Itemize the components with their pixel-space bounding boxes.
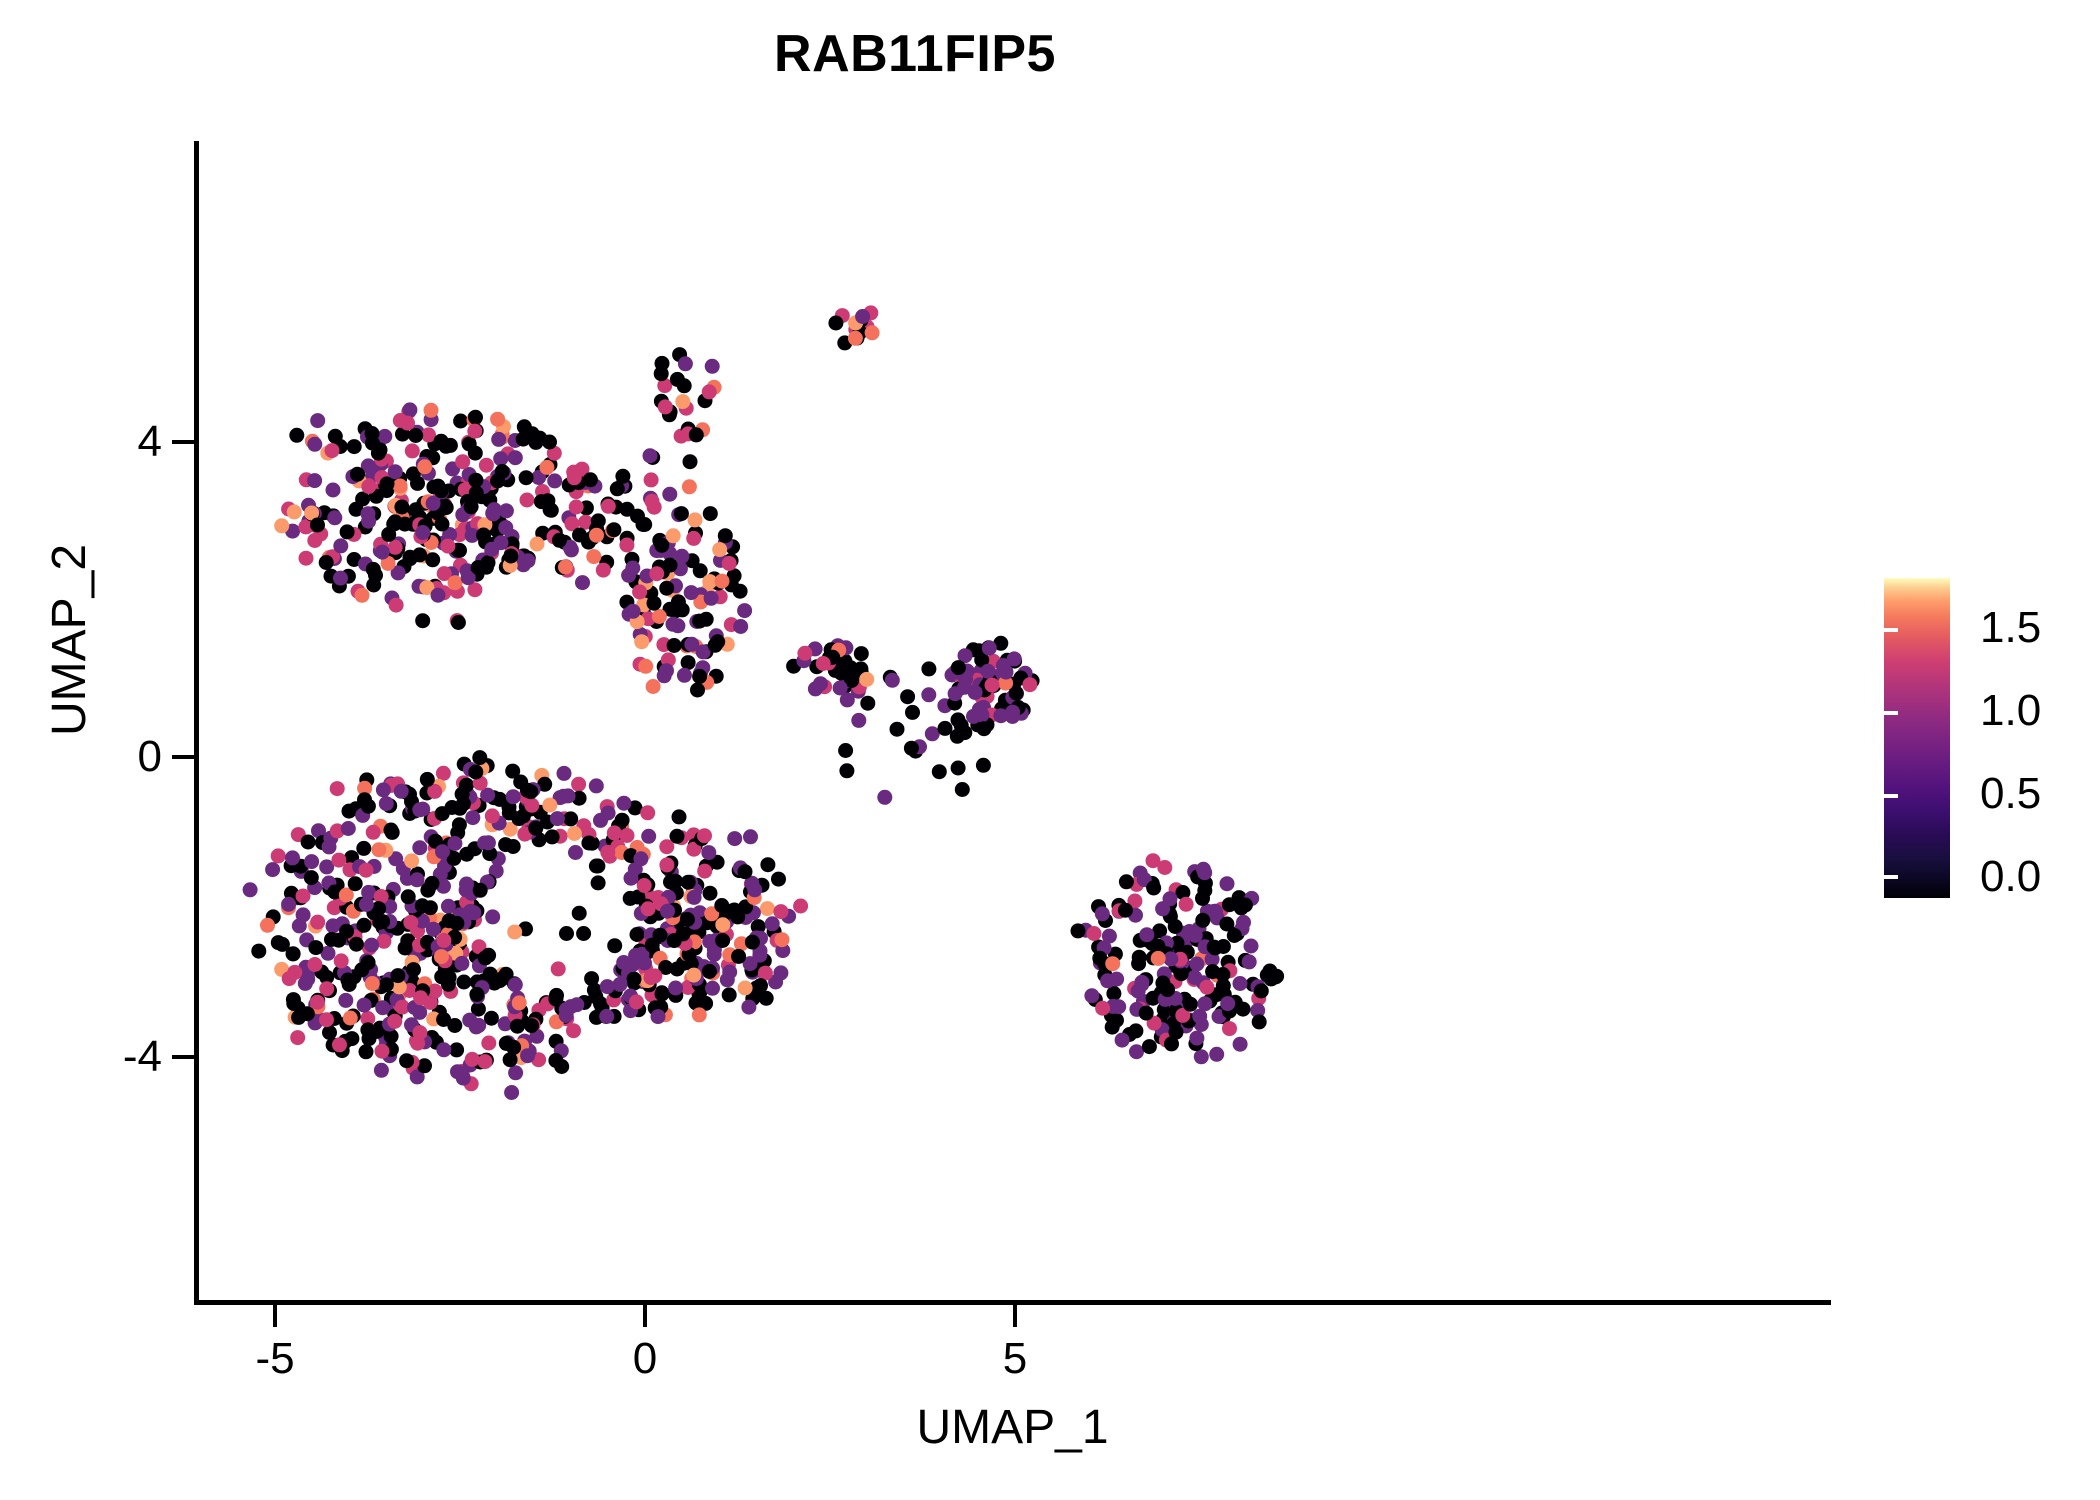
scatter-point: [563, 811, 578, 826]
scatter-point: [415, 525, 430, 540]
scatter-point: [324, 932, 339, 947]
scatter-point: [692, 614, 707, 629]
scatter-point: [296, 907, 311, 922]
scatter-point: [503, 549, 518, 564]
scatter-point: [355, 588, 370, 603]
scatter-point: [338, 993, 353, 1008]
scatter-point: [1139, 927, 1154, 942]
scatter-point: [1119, 874, 1134, 889]
scatter-point: [1095, 906, 1110, 921]
scatter-point: [641, 901, 656, 916]
scatter-point: [731, 949, 746, 964]
scatter-point: [733, 584, 748, 599]
scatter-points-layer: [194, 141, 1830, 1303]
scatter-point: [456, 796, 471, 811]
scatter-point: [596, 563, 611, 578]
scatter-point: [591, 875, 606, 890]
scatter-point: [854, 646, 869, 661]
scatter-point: [327, 510, 342, 525]
scatter-point: [765, 916, 780, 931]
scatter-point: [601, 499, 616, 514]
scatter-point: [547, 473, 562, 488]
scatter-point: [508, 1065, 523, 1080]
scatter-point: [1262, 964, 1277, 979]
scatter-point: [1183, 997, 1198, 1012]
scatter-point: [599, 1009, 614, 1024]
scatter-point: [692, 669, 707, 684]
scatter-point: [286, 996, 301, 1011]
scatter-point: [667, 638, 682, 653]
scatter-point: [1160, 982, 1175, 997]
scatter-point: [406, 962, 421, 977]
scatter-point: [1087, 926, 1102, 941]
scatter-point: [290, 1030, 305, 1045]
scatter-point: [1222, 1021, 1237, 1036]
scatter-point: [1134, 975, 1149, 990]
scatter-point: [381, 527, 396, 542]
scatter-point: [692, 1007, 707, 1022]
scatter-point: [506, 1040, 521, 1055]
scatter-point: [678, 356, 693, 371]
scatter-point: [730, 909, 745, 924]
scatter-point: [705, 981, 720, 996]
scatter-point: [469, 486, 484, 501]
scatter-point: [304, 870, 319, 885]
scatter-point: [683, 454, 698, 469]
scatter-point: [331, 853, 346, 868]
scatter-point: [1194, 1049, 1209, 1064]
scatter-point: [640, 805, 655, 820]
scatter-point: [408, 502, 423, 517]
scatter-point: [486, 507, 501, 522]
scatter-point: [670, 962, 685, 977]
scatter-point: [417, 459, 432, 474]
scatter-point: [702, 934, 717, 949]
scatter-point: [1005, 705, 1020, 720]
scatter-point: [453, 414, 468, 429]
scatter-point: [361, 514, 376, 529]
scatter-point: [447, 1018, 462, 1033]
scatter-point: [672, 809, 687, 824]
scatter-point: [828, 316, 843, 331]
scatter-point: [738, 981, 753, 996]
scatter-point: [1242, 954, 1257, 969]
scatter-point: [615, 813, 630, 828]
scatter-point: [357, 792, 372, 807]
scatter-point: [389, 598, 404, 613]
scatter-point: [511, 811, 526, 826]
scatter-point: [753, 978, 768, 993]
scatter-point: [412, 1025, 427, 1040]
scatter-point: [1220, 876, 1235, 891]
scatter-point: [393, 479, 408, 494]
scatter-point: [412, 547, 427, 562]
scatter-point: [287, 505, 302, 520]
scatter-point: [424, 403, 439, 418]
scatter-point: [682, 479, 697, 494]
scatter-point: [690, 683, 705, 698]
scatter-point: [491, 432, 506, 447]
scatter-point: [905, 705, 920, 720]
scatter-point: [681, 875, 696, 890]
scatter-point: [413, 990, 428, 1005]
scatter-point: [1132, 950, 1147, 965]
scatter-point: [976, 758, 991, 773]
scatter-point: [666, 617, 681, 632]
scatter-point: [1146, 881, 1161, 896]
scatter-point: [330, 781, 345, 796]
scatter-point: [510, 1019, 525, 1034]
scatter-point: [322, 1025, 337, 1040]
scatter-point: [904, 741, 919, 756]
scatter-point: [498, 837, 513, 852]
scatter-point: [332, 1037, 347, 1052]
scatter-point: [394, 500, 409, 515]
scatter-point: [644, 472, 659, 487]
scatter-point: [385, 825, 400, 840]
scatter-point: [629, 994, 644, 1009]
scatter-point: [697, 828, 712, 843]
x-tick-mark: [643, 1305, 647, 1327]
x-axis-title: UMAP_1: [194, 1400, 1831, 1456]
scatter-point: [705, 359, 720, 374]
scatter-point: [325, 443, 340, 458]
scatter-point: [643, 448, 658, 463]
scatter-point: [662, 487, 677, 502]
scatter-point: [465, 810, 480, 825]
colorbar-tick-mark: [1884, 628, 1898, 632]
scatter-point: [651, 1009, 666, 1024]
scatter-point: [658, 399, 673, 414]
scatter-point: [504, 1085, 519, 1100]
scatter-point: [1128, 1023, 1143, 1038]
scatter-point: [1179, 897, 1194, 912]
scatter-point: [985, 678, 1000, 693]
y-tick-label: 0: [138, 735, 162, 779]
scatter-point: [523, 784, 538, 799]
scatter-point: [702, 964, 717, 979]
scatter-point: [357, 918, 372, 933]
scatter-point: [1084, 988, 1099, 1003]
scatter-point: [1189, 1031, 1204, 1046]
scatter-point: [572, 528, 587, 543]
x-tick-label: 0: [575, 1337, 715, 1381]
scatter-point: [738, 864, 753, 879]
scatter-point: [403, 915, 418, 930]
scatter-point: [468, 410, 483, 425]
scatter-point: [996, 658, 1011, 673]
scatter-point: [626, 604, 641, 619]
scatter-point: [660, 904, 675, 919]
scatter-point: [524, 798, 539, 813]
scatter-point: [722, 987, 737, 1002]
scatter-point: [982, 641, 997, 656]
scatter-point: [296, 889, 311, 904]
scatter-point: [434, 949, 449, 964]
scatter-point: [400, 416, 415, 431]
scatter-point: [542, 798, 557, 813]
scatter-point: [343, 1011, 358, 1026]
scatter-point: [681, 655, 696, 670]
scatter-point: [434, 434, 449, 449]
plot-panel: [194, 141, 1830, 1303]
scatter-point: [1220, 996, 1235, 1011]
scatter-point: [559, 926, 574, 941]
scatter-point: [354, 962, 369, 977]
scatter-point: [1236, 915, 1251, 930]
scatter-point: [684, 585, 699, 600]
scatter-point: [643, 970, 658, 985]
scatter-point: [426, 922, 441, 937]
scatter-point: [645, 494, 660, 509]
scatter-point: [838, 743, 853, 758]
scatter-point: [359, 863, 374, 878]
scatter-point: [667, 933, 682, 948]
scatter-point: [647, 596, 662, 611]
scatter-point: [404, 853, 419, 868]
scatter-point: [715, 917, 730, 932]
scatter-point: [442, 913, 457, 928]
scatter-point: [371, 842, 386, 857]
scatter-point: [760, 901, 775, 916]
scatter-point: [1118, 903, 1133, 918]
scatter-point: [322, 839, 337, 854]
scatter-point: [677, 668, 692, 683]
scatter-point: [674, 506, 689, 521]
scatter-point: [410, 476, 425, 491]
scatter-point: [271, 848, 286, 863]
scatter-point: [567, 826, 582, 841]
scatter-point: [1197, 996, 1212, 1011]
scatter-point: [405, 443, 420, 458]
scatter-point: [722, 965, 737, 980]
scatter-point: [439, 500, 454, 515]
colorbar-tick-mark: [2070, 711, 2084, 715]
scatter-point: [243, 882, 258, 897]
scatter-point: [712, 542, 727, 557]
scatter-point: [1071, 923, 1086, 938]
colorbar-tick-label: 1.0: [1980, 689, 2041, 733]
scatter-point: [638, 659, 653, 674]
scatter-point: [625, 957, 640, 972]
scatter-point: [600, 845, 615, 860]
scatter-point: [481, 948, 496, 963]
scatter-point: [375, 914, 390, 929]
scatter-point: [589, 528, 604, 543]
scatter-point: [469, 1019, 484, 1034]
x-tick-label: -5: [205, 1337, 345, 1381]
scatter-point: [607, 938, 622, 953]
scatter-point: [646, 679, 661, 694]
scatter-point: [467, 424, 482, 439]
scatter-point: [484, 1011, 499, 1026]
scatter-point: [860, 696, 875, 711]
scatter-point: [668, 981, 683, 996]
scatter-point: [310, 995, 325, 1010]
scatter-point: [641, 829, 656, 844]
y-tick-mark: [172, 440, 194, 444]
scatter-point: [557, 766, 572, 781]
scatter-point: [524, 1018, 539, 1033]
scatter-point: [340, 973, 355, 988]
scatter-point: [455, 454, 470, 469]
scatter-point: [410, 872, 425, 887]
scatter-point: [420, 772, 435, 787]
scatter-point: [365, 426, 380, 441]
scatter-point: [478, 1054, 493, 1069]
scatter-point: [957, 725, 972, 740]
colorbar-tick-label: 1.5: [1980, 606, 2041, 650]
scatter-point: [508, 450, 523, 465]
scatter-point: [310, 518, 325, 533]
scatter-point: [1155, 901, 1170, 916]
scatter-point: [586, 549, 601, 564]
scatter-point: [412, 802, 427, 817]
scatter-point: [1105, 1020, 1120, 1035]
x-tick-mark: [273, 1305, 277, 1327]
scatter-point: [251, 944, 266, 959]
scatter-point: [568, 845, 583, 860]
scatter-point: [364, 938, 379, 953]
scatter-point: [649, 566, 664, 581]
scatter-point: [468, 765, 483, 780]
scatter-point: [616, 796, 631, 811]
scatter-point: [299, 551, 314, 566]
scatter-point: [558, 560, 573, 575]
scatter-point: [1115, 1033, 1130, 1048]
scatter-point: [607, 825, 622, 840]
scatter-point: [1207, 940, 1222, 955]
scatter-point: [552, 533, 567, 548]
scatter-point: [481, 1036, 496, 1051]
scatter-point: [333, 571, 348, 586]
scatter-point: [479, 560, 494, 575]
scatter-point: [816, 656, 831, 671]
scatter-point: [707, 947, 722, 962]
scatter-point: [319, 1012, 334, 1027]
scatter-point: [307, 957, 322, 972]
scatter-point: [583, 472, 598, 487]
colorbar-tick-mark: [1884, 875, 1898, 879]
scatter-point: [326, 483, 341, 498]
scatter-point: [398, 941, 413, 956]
scatter-point: [797, 646, 812, 661]
scatter-point: [466, 905, 481, 920]
scatter-point: [1139, 1006, 1154, 1021]
scatter-point: [957, 680, 972, 695]
scatter-point: [1238, 898, 1253, 913]
scatter-point: [300, 1006, 315, 1021]
scatter-point: [671, 594, 686, 609]
scatter-point: [572, 906, 587, 921]
scatter-point: [571, 777, 586, 792]
scatter-point: [281, 897, 296, 912]
scatter-point: [401, 889, 416, 904]
scatter-point: [747, 882, 762, 897]
scatter-point: [859, 672, 874, 687]
scatter-point: [654, 538, 669, 553]
scatter-point: [714, 898, 729, 913]
scatter-point: [655, 987, 670, 1002]
scatter-point: [851, 713, 866, 728]
scatter-point: [900, 689, 915, 704]
scatter-point: [412, 840, 427, 855]
scatter-point: [655, 356, 670, 371]
scatter-point: [539, 460, 554, 475]
scatter-point: [361, 479, 376, 494]
y-tick-label: 4: [138, 420, 162, 464]
scatter-point: [1219, 917, 1234, 932]
scatter-point: [885, 673, 900, 688]
scatter-point: [627, 972, 642, 987]
scatter-point: [379, 796, 394, 811]
scatter-point: [715, 574, 730, 589]
scatter-point: [298, 976, 313, 991]
scatter-point: [459, 778, 474, 793]
scatter-point: [507, 925, 522, 940]
scatter-point: [390, 968, 405, 983]
scatter-point: [1092, 951, 1107, 966]
scatter-point: [686, 968, 701, 983]
scatter-point: [659, 857, 674, 872]
scatter-point: [636, 517, 651, 532]
scatter-point: [530, 537, 545, 552]
scatter-point: [634, 634, 649, 649]
scatter-point: [677, 378, 692, 393]
page-title: RAB11FIP5: [0, 24, 1830, 84]
scatter-point: [1109, 972, 1124, 987]
scatter-point: [1233, 1037, 1248, 1052]
scatter-point: [415, 613, 430, 628]
scatter-point: [718, 528, 733, 543]
colorbar-tick-label: 0.0: [1980, 855, 2041, 899]
scatter-point: [566, 1023, 581, 1038]
scatter-point: [425, 876, 440, 891]
scatter-point: [380, 476, 395, 491]
colorbar-tick-label: 0.5: [1980, 772, 2041, 816]
scatter-point: [265, 862, 280, 877]
scatter-point: [760, 857, 775, 872]
scatter-point: [498, 520, 513, 535]
colorbar-tick-mark: [2070, 628, 2084, 632]
scatter-point: [637, 878, 652, 893]
scatter-point: [703, 886, 718, 901]
scatter-point: [534, 494, 549, 509]
scatter-point: [376, 782, 391, 797]
scatter-point: [951, 660, 966, 675]
scatter-point: [304, 854, 319, 869]
scatter-point: [773, 904, 788, 919]
scatter-point: [1254, 983, 1269, 998]
scatter-point: [434, 483, 449, 498]
scatter-point: [865, 325, 880, 340]
scatter-point: [492, 973, 507, 988]
scatter-point: [745, 935, 760, 950]
colorbar-tick-mark: [2070, 794, 2084, 798]
scatter-point: [951, 761, 966, 776]
scatter-point: [625, 561, 640, 576]
scatter-point: [575, 575, 590, 590]
scatter-point: [743, 829, 758, 844]
scatter-point: [1095, 1001, 1110, 1016]
scatter-point: [369, 1024, 384, 1039]
scatter-point: [334, 953, 349, 968]
scatter-point: [1142, 1039, 1157, 1054]
scatter-point: [274, 518, 289, 533]
scatter-point: [588, 989, 603, 1004]
scatter-point: [1188, 928, 1203, 943]
scatter-point: [287, 965, 302, 980]
